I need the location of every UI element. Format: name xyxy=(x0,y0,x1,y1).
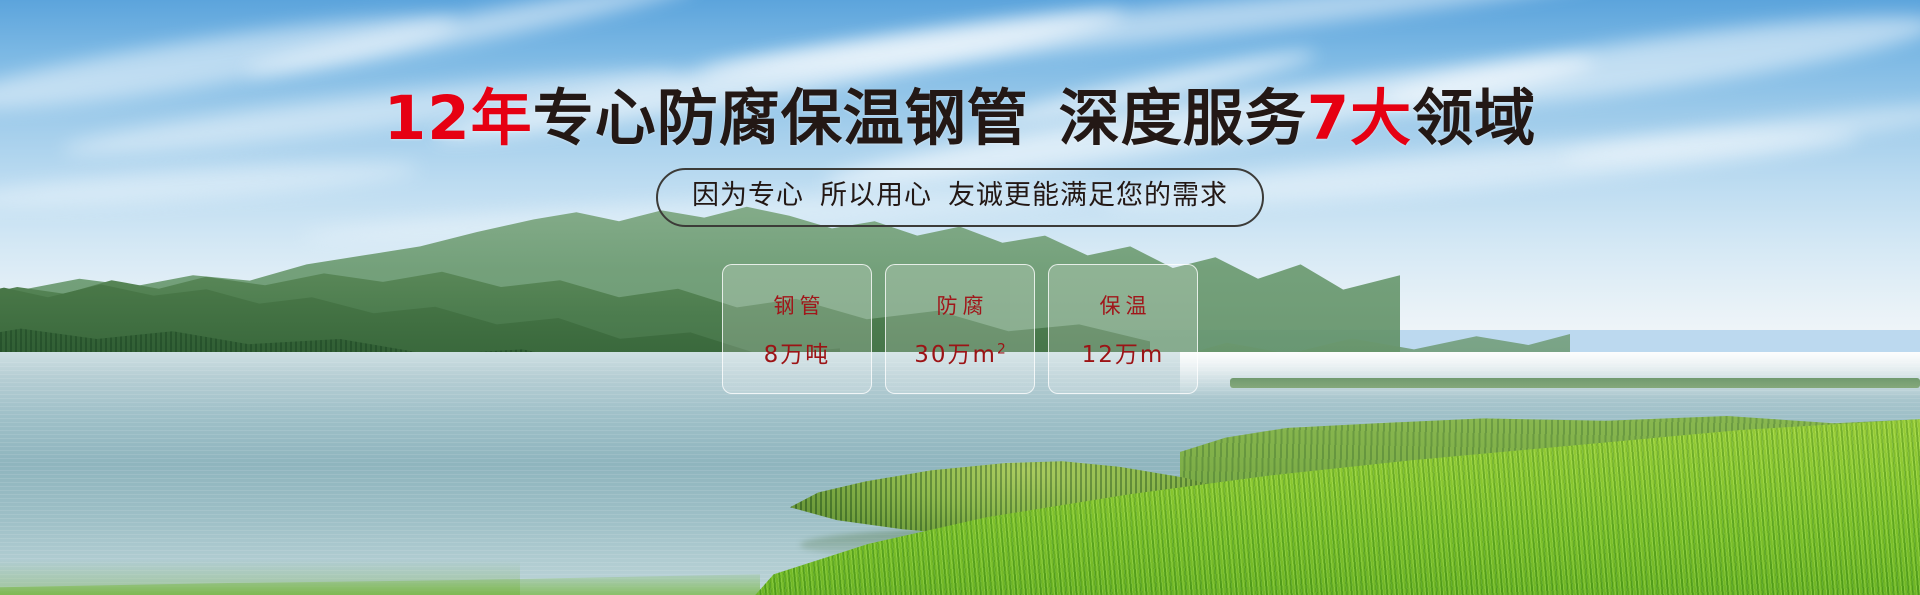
subtitle-pill: 因为专心所以用心友诚更能满足您的需求 xyxy=(656,168,1264,227)
stat-value-superscript: 2 xyxy=(997,341,1006,357)
stat-card-steel-pipe[interactable]: 钢管 8万吨 xyxy=(722,264,872,394)
stat-card-insulation[interactable]: 保温 12万m xyxy=(1048,264,1198,394)
stat-label: 保温 xyxy=(1095,290,1152,320)
stat-value: 8万吨 xyxy=(764,335,831,369)
stat-label: 钢管 xyxy=(769,290,826,320)
subtitle-part-1: 因为专心 xyxy=(692,180,804,211)
subtitle-part-3: 友诚更能满足您的需求 xyxy=(948,180,1228,211)
headline-highlight-unit: 大 xyxy=(1350,83,1412,154)
headline-segment-2: 深度服务 xyxy=(1059,83,1307,154)
stat-value-main: 8万吨 xyxy=(764,342,831,368)
stat-value-main: 12万m xyxy=(1082,342,1165,368)
stat-card-anticorrosion[interactable]: 防腐 30万m2 xyxy=(885,264,1035,394)
headline-segment-1: 专心防腐保温钢管 xyxy=(533,83,1029,154)
headline-years-unit: 年 xyxy=(471,83,533,154)
stat-value: 30万m2 xyxy=(914,335,1005,369)
subtitle-part-2: 所以用心 xyxy=(820,180,932,211)
stat-card-group: 钢管 8万吨 防腐 30万m2 保温 12万m xyxy=(722,264,1198,394)
headline: 12年专心防腐保温钢管深度服务7大领域 xyxy=(0,88,1920,149)
stat-label: 防腐 xyxy=(932,290,989,320)
headline-highlight-number: 7 xyxy=(1307,83,1350,154)
stat-value: 12万m xyxy=(1082,335,1165,369)
hero-banner: 12年专心防腐保温钢管深度服务7大领域 因为专心所以用心友诚更能满足您的需求 钢… xyxy=(0,0,1920,595)
far-shoreline xyxy=(1230,378,1920,388)
cloud-icon xyxy=(0,154,420,216)
cloud-icon xyxy=(242,0,699,86)
headline-segment-3: 领域 xyxy=(1412,83,1536,154)
cloud-icon xyxy=(701,0,1600,89)
stat-value-main: 30万m xyxy=(914,342,997,368)
headline-years-number: 12 xyxy=(384,83,471,154)
